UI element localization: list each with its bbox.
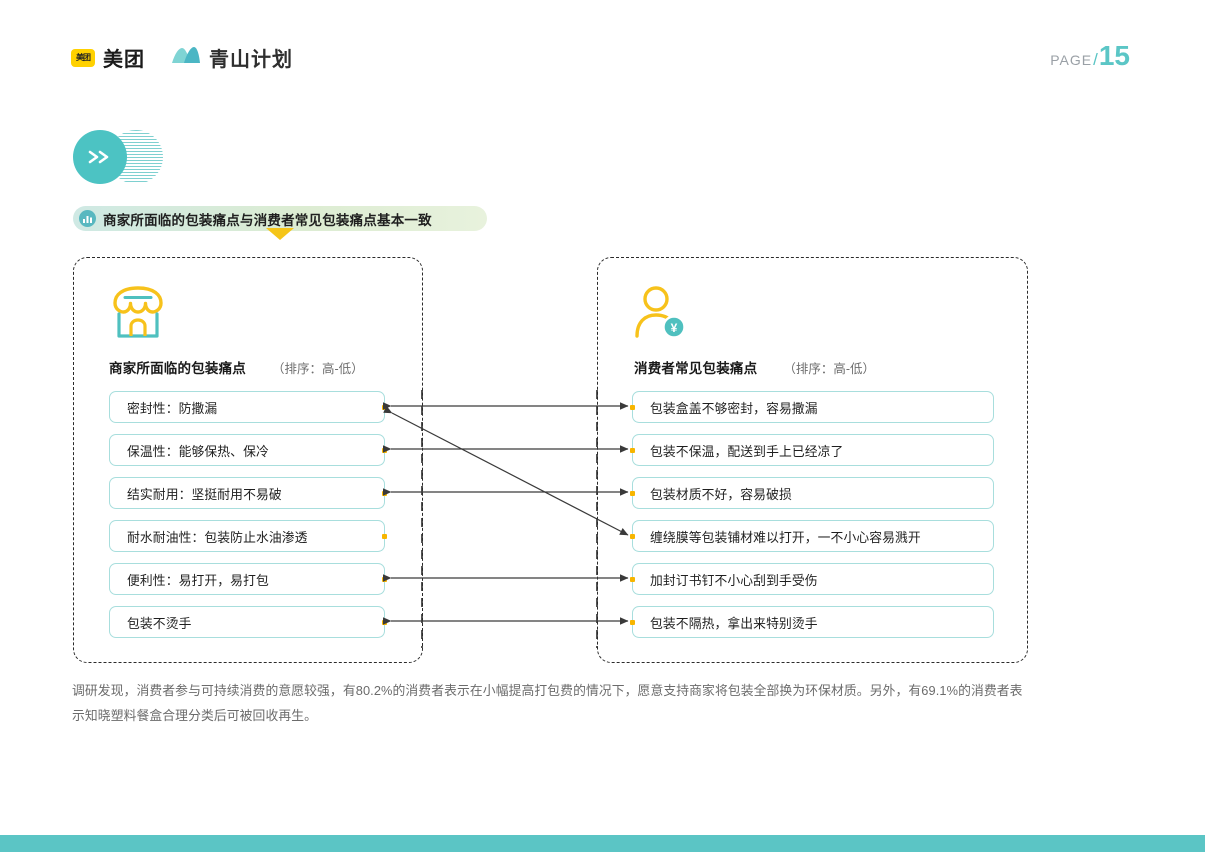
list-item[interactable]: 耐水耐油性：包装防止水油渗透 [109, 520, 385, 552]
connector-dot-icon [382, 448, 387, 453]
svg-text:¥: ¥ [671, 321, 678, 335]
consumer-panel-title: 消费者常见包装痛点 [634, 357, 757, 377]
consumer-painpoints-panel: ¥ 消费者常见包装痛点 （排序：高-低） 包装盒盖不够密封，容易撒漏 包装不保温… [597, 257, 1028, 663]
list-item[interactable]: 包装材质不好，容易破损 [632, 477, 994, 509]
connector-dot-icon [630, 577, 635, 582]
section-banner-text: 商家所面临的包装痛点与消费者常见包装痛点基本一致 [103, 209, 432, 229]
list-item-label: 结实耐用：坚挺耐用不易破 [127, 484, 282, 503]
page-number-value: 15 [1099, 40, 1130, 72]
merchant-painpoints-panel: 商家所面临的包装痛点 （排序：高-低） 密封性：防撒漏 保温性：能够保热、保冷 … [73, 257, 423, 663]
section-marker [73, 130, 169, 184]
brand-plan-name: 青山计划 [209, 43, 293, 72]
list-item-label: 包装材质不好，容易破损 [650, 484, 792, 503]
list-item-label: 加封订书钉不小心刮到手受伤 [650, 570, 818, 589]
page-number-slash: / [1093, 50, 1098, 70]
connector-dot-icon [630, 534, 635, 539]
consumer-panel-sort-note: （排序：高-低） [783, 358, 875, 377]
list-item-label: 包装不隔热，拿出来特别烫手 [650, 613, 818, 632]
footnote-text: 调研发现，消费者参与可持续消费的意愿较强，有80.2%的消费者表示在小幅提高打包… [72, 678, 1032, 728]
list-item-label: 包装不烫手 [127, 613, 191, 632]
list-item-label: 缠绕膜等包装铺材难以打开，一不小心容易溅开 [650, 527, 921, 546]
list-item-label: 包装不保温，配送到手上已经凉了 [650, 441, 843, 460]
list-item[interactable]: 包装不保温，配送到手上已经凉了 [632, 434, 994, 466]
merchant-panel-title: 商家所面临的包装痛点 [109, 357, 246, 377]
list-item[interactable]: 包装不烫手 [109, 606, 385, 638]
list-item[interactable]: 包装盒盖不够密封，容易撒漏 [632, 391, 994, 423]
connector-dot-icon [630, 405, 635, 410]
list-item-label: 保温性：能够保热、保冷 [127, 441, 269, 460]
storefront-icon [107, 284, 169, 347]
consumer-panel-heading: 消费者常见包装痛点 （排序：高-低） [634, 357, 875, 377]
page-number-label: PAGE [1050, 52, 1092, 68]
list-item[interactable]: 包装不隔热，拿出来特别烫手 [632, 606, 994, 638]
double-chevron-icon [73, 130, 127, 184]
list-item-label: 包装盒盖不够密封，容易撒漏 [650, 398, 818, 417]
list-item-label: 耐水耐油性：包装防止水油渗透 [127, 527, 308, 546]
bottom-accent-bar [0, 835, 1205, 852]
brand-name: 美团 [103, 43, 145, 72]
list-item[interactable]: 加封订书钉不小心刮到手受伤 [632, 563, 994, 595]
connector-dot-icon [382, 577, 387, 582]
merchant-panel-heading: 商家所面临的包装痛点 （排序：高-低） [109, 357, 364, 377]
list-item-label: 密封性：防撒漏 [127, 398, 217, 417]
merchant-panel-sort-note: （排序：高-低） [272, 358, 364, 377]
connector-dot-icon [630, 448, 635, 453]
list-item[interactable]: 保温性：能够保热、保冷 [109, 434, 385, 466]
page-number: PAGE / 15 [1050, 40, 1130, 72]
connector-dot-icon [630, 620, 635, 625]
page-header: 美团 美团 青山计划 PAGE / 15 [0, 0, 1205, 95]
connector-dot-icon [382, 534, 387, 539]
slide-page: 美团 美团 青山计划 PAGE / 15 [0, 0, 1205, 852]
connector-diagonal [392, 413, 628, 535]
meituan-logo-icon: 美团 [71, 49, 95, 67]
brand-lockup: 美团 美团 青山计划 [71, 43, 293, 72]
bar-chart-icon [79, 210, 96, 227]
connector-dot-icon [382, 491, 387, 496]
connector-dot-icon [382, 405, 387, 410]
list-item[interactable]: 便利性：易打开，易打包 [109, 563, 385, 595]
mountain-icon [171, 45, 201, 70]
list-item[interactable]: 缠绕膜等包装铺材难以打开，一不小心容易溅开 [632, 520, 994, 552]
list-item[interactable]: 结实耐用：坚挺耐用不易破 [109, 477, 385, 509]
list-item[interactable]: 密封性：防撒漏 [109, 391, 385, 423]
connector-dot-icon [382, 620, 387, 625]
connector-dot-icon [630, 491, 635, 496]
banner-pointer-icon [266, 228, 294, 240]
list-item-label: 便利性：易打开，易打包 [127, 570, 269, 589]
consumer-person-icon: ¥ [632, 284, 690, 347]
